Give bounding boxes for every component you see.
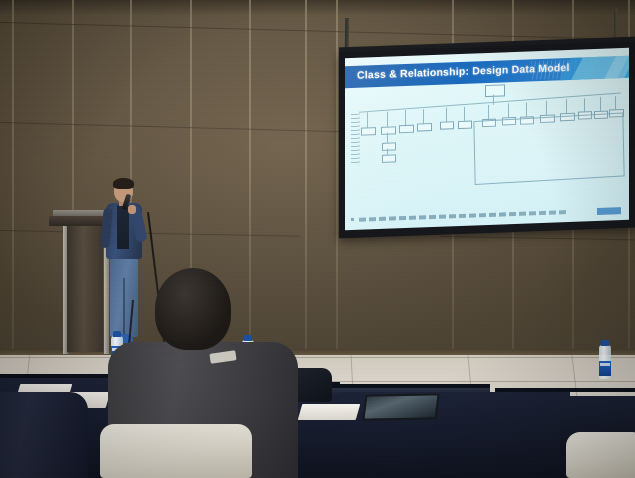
diagram-group-box: [473, 112, 624, 185]
class-relationship-diagram: [345, 78, 629, 208]
diagram-connector: [615, 96, 616, 110]
paper-sheet: [298, 404, 361, 420]
diagram-node: [417, 123, 432, 132]
water-bottle: [599, 345, 611, 379]
bottle-cap: [244, 335, 252, 341]
slide-logo: [597, 207, 621, 215]
slide-page-number: [351, 218, 354, 221]
presenter-hair: [113, 178, 134, 189]
bottle-label: [599, 361, 611, 376]
presentation-slide: Class & Relationship: Design Data Model: [345, 48, 629, 230]
bottle-label-text: [600, 363, 610, 366]
floor-grid-line: [0, 357, 635, 358]
diagram-node: [381, 126, 396, 135]
diagram-subnode: [382, 142, 396, 151]
bottle-cap: [601, 340, 609, 346]
tablet-device[interactable]: [362, 393, 439, 420]
table-edge: [495, 388, 635, 392]
attendee-center-head: [155, 268, 231, 350]
diagram-node: [458, 121, 472, 130]
projection-screen: Class & Relationship: Design Data Model: [339, 42, 635, 239]
lectern-body: [67, 226, 103, 352]
conference-room-photo: Class & Relationship: Design Data Model: [0, 0, 635, 478]
diagram-node: [399, 125, 414, 134]
presenter-hand: [128, 205, 136, 214]
diagram-root-node: [485, 84, 505, 97]
bottle-cap: [113, 331, 121, 337]
chair-front-center: [100, 424, 252, 478]
slide-footer-text: [359, 210, 569, 222]
presenter: [100, 178, 148, 356]
diagram-node: [361, 127, 376, 136]
diagram-node: [440, 121, 454, 130]
chair-right: [566, 432, 635, 478]
diagram-connector: [493, 95, 494, 105]
diagram-connector: [600, 97, 601, 112]
diagram-subnode: [382, 154, 396, 163]
diagram-side-label-strip: [351, 114, 360, 166]
attendee-left-body: [0, 392, 88, 478]
presenter-leg-seam: [123, 278, 125, 336]
diagram-connector: [387, 133, 388, 143]
